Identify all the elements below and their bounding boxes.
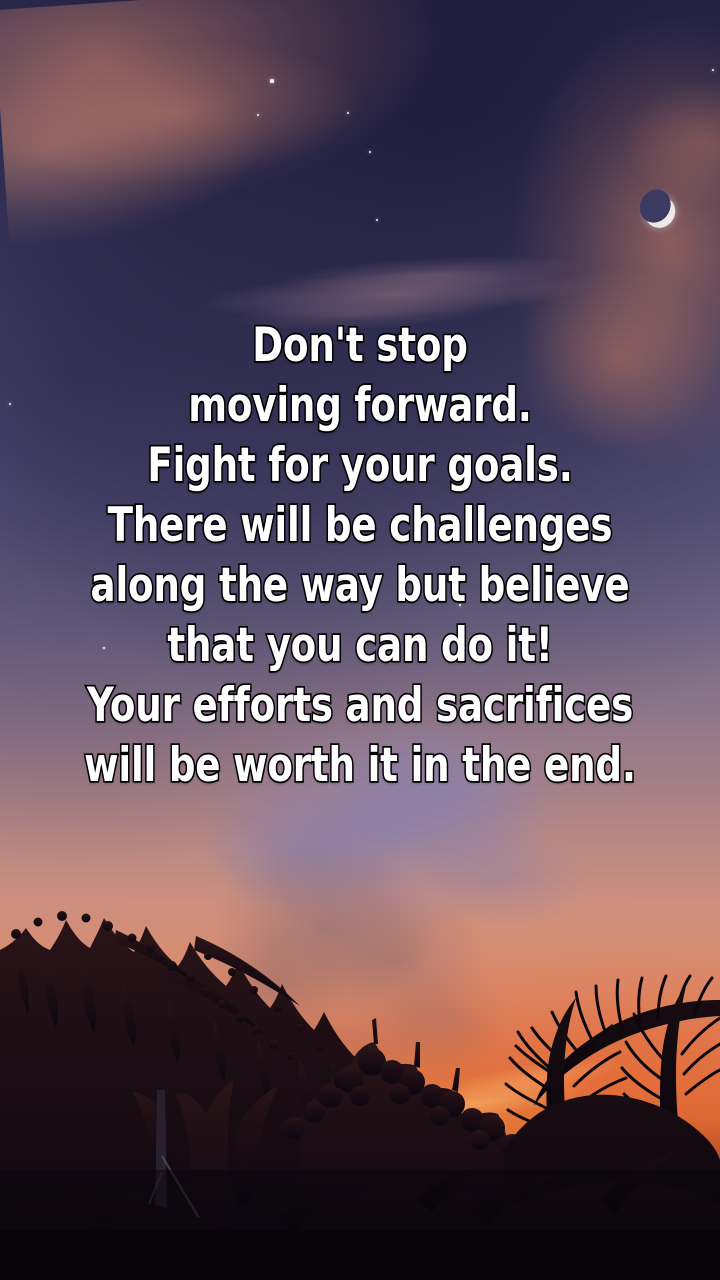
quote-line: There will be challenges — [43, 496, 677, 556]
wallpaper-canvas: Don't stop moving forward. Fight for you… — [0, 0, 720, 1280]
quote-line: will be worth it in the end. — [43, 736, 677, 796]
quote-line: Don't stop — [43, 316, 677, 376]
quote-line: that you can do it! — [43, 616, 677, 676]
quote-text-block: Don't stop moving forward. Fight for you… — [0, 316, 720, 796]
quote-line: along the way but believe — [43, 556, 677, 616]
quote-line: Fight for your goals. — [43, 436, 677, 496]
quote-line: moving forward. — [43, 376, 677, 436]
quote-line: Your efforts and sacrifices — [43, 676, 677, 736]
